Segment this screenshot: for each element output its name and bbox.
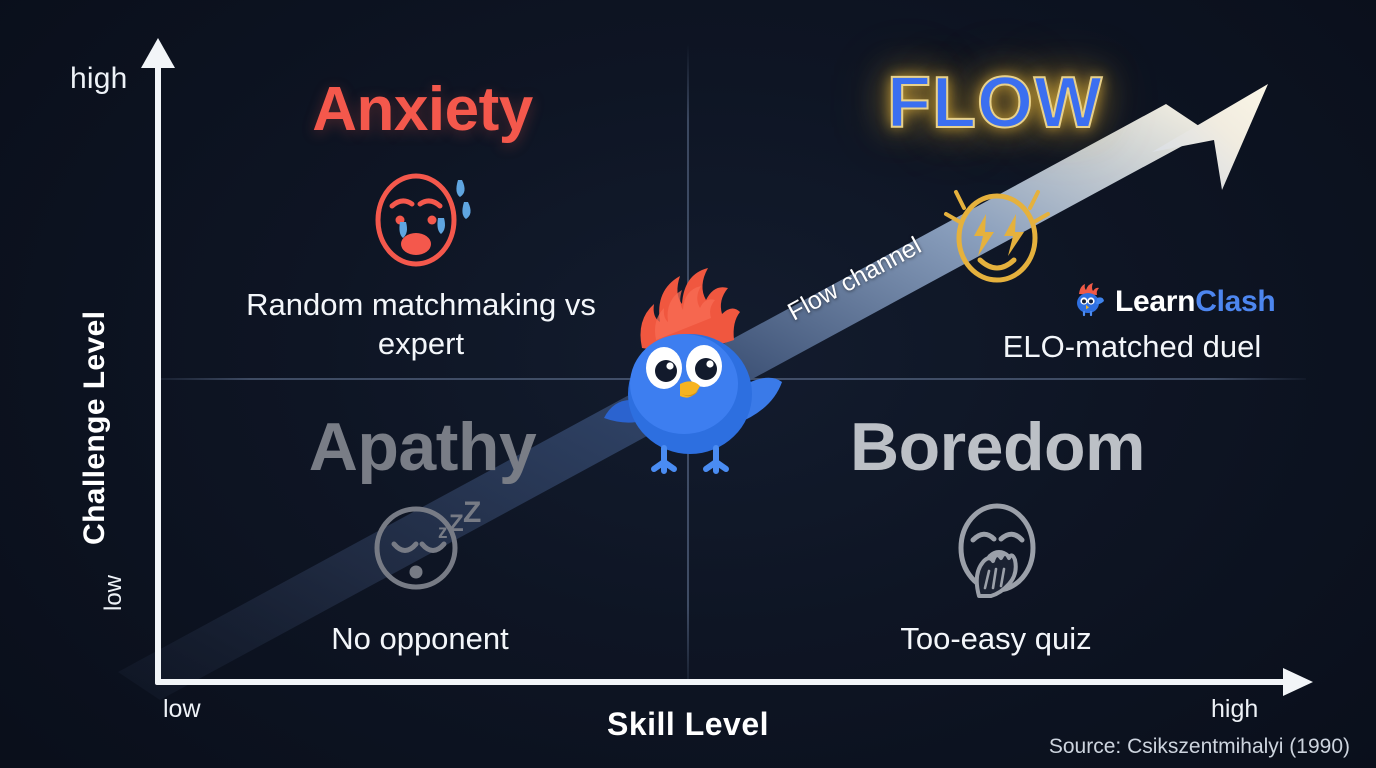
quadrant-caption-anxiety: Random matchmaking vs expert <box>216 286 626 364</box>
x-axis-arrowhead-icon <box>1283 668 1313 696</box>
brand-logo: LearnClash <box>1070 281 1275 322</box>
anxious-sweat-face-icon <box>366 170 476 275</box>
brand-name-learn: Learn <box>1115 285 1195 318</box>
brand-name: LearnClash <box>1115 285 1275 319</box>
quadrant-heading-apathy: Apathy <box>280 408 565 486</box>
quadrant-caption-flow: ELO-matched duel <box>962 328 1302 367</box>
y-axis-title: Challenge Level <box>78 311 112 545</box>
quadrant-heading-flow: FLOW <box>845 62 1145 144</box>
quadrant-caption-apathy: No opponent <box>250 620 590 659</box>
learnclash-bird-logo-icon <box>1070 281 1106 322</box>
svg-text:z: z <box>438 522 448 543</box>
brand-name-clash: Clash <box>1195 285 1275 318</box>
svg-text:Z: Z <box>449 510 464 537</box>
yawning-face-icon <box>945 500 1050 605</box>
y-axis-arrowhead-icon <box>141 38 175 68</box>
quadrant-caption-boredom: Too-easy quiz <box>826 620 1166 659</box>
x-axis-line <box>155 679 1287 685</box>
learnclash-mascot-bird <box>600 252 790 482</box>
source-attribution: Source: Csikszentmihalyi (1990) <box>1049 735 1350 759</box>
y-axis-high-label: high <box>70 62 128 96</box>
y-axis-line <box>155 62 161 684</box>
sleeping-face-icon: z Z Z <box>368 498 483 598</box>
svg-text:Z: Z <box>463 498 481 529</box>
lightning-eyes-face-icon <box>942 180 1052 290</box>
flow-channel-label: Flow channel <box>783 231 926 327</box>
quadrant-heading-anxiety: Anxiety <box>280 74 565 145</box>
flow-channel-diagram: Flow channel high low Challenge Level lo… <box>0 0 1376 768</box>
y-axis-low-label: low <box>100 575 128 611</box>
quadrant-heading-boredom: Boredom <box>825 408 1170 486</box>
